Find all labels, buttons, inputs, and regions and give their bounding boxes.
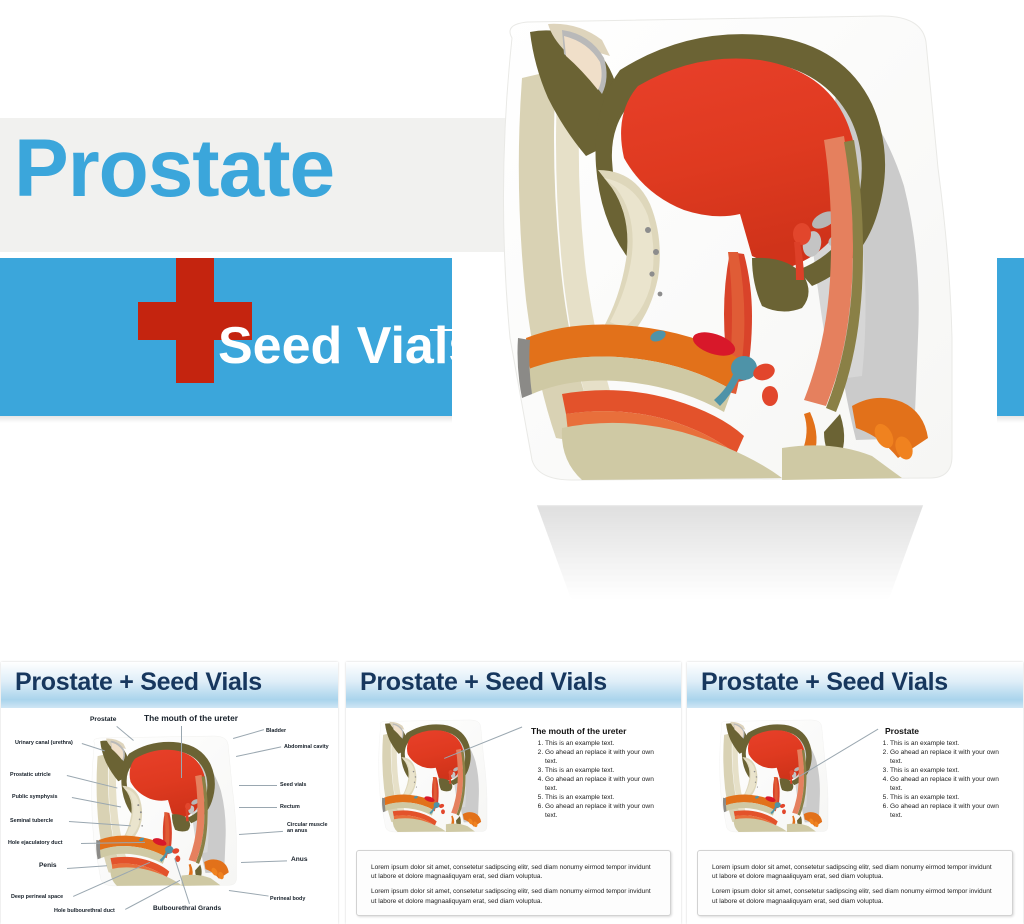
lorem-text-box: Lorem ipsum dolor sit amet, consetetur s… bbox=[697, 850, 1013, 916]
slide-title: Prostate + Seed Vials bbox=[360, 668, 607, 697]
list-item: This is an example text. bbox=[890, 767, 1005, 776]
list-item: Go ahead an replace it with your own tex… bbox=[545, 749, 660, 766]
label-bulbourethral-grands: Bulbourethral Grands bbox=[153, 905, 221, 913]
slide-title: Prostate + Seed Vials bbox=[701, 668, 948, 697]
slide-body: The mouth of the ureter This is an examp… bbox=[346, 708, 681, 924]
label-prostate: Prostate bbox=[90, 716, 116, 724]
list-item: This is an example text. bbox=[545, 794, 660, 803]
slide-header: Prostate + Seed Vials bbox=[687, 662, 1023, 708]
label-hole-bulbourethral-duct: Hole bulbourethral duct bbox=[54, 908, 115, 914]
list-item: This is an example text. bbox=[890, 740, 1005, 749]
label-prostatic-utricle: Prostatic utricle bbox=[10, 772, 51, 778]
callout-title: Prostate bbox=[885, 726, 919, 736]
thumbnail-slide-3[interactable]: Prostate + Seed Vials Prostate This is a… bbox=[687, 662, 1023, 924]
page-title: Prostate bbox=[14, 128, 334, 210]
leader-line bbox=[239, 785, 277, 786]
list-item: This is an example text. bbox=[545, 767, 660, 776]
list-item: Go ahead an replace it with your own tex… bbox=[545, 803, 660, 820]
bullet-list: This is an example text. Go ahead an rep… bbox=[879, 740, 1005, 821]
illustration-reflection bbox=[520, 505, 940, 625]
leader-line bbox=[181, 726, 182, 778]
hero-slide: Prostate Seed Vials bbox=[0, 0, 1024, 650]
prostate-anatomy-illustration bbox=[452, 8, 997, 513]
thumbnail-slide-2[interactable]: Prostate + Seed Vials The mouth of the u… bbox=[346, 662, 681, 924]
slide-title: Prostate + Seed Vials bbox=[15, 668, 262, 697]
label-rectum: Rectum bbox=[280, 804, 300, 810]
thumbnail-slide-1[interactable]: Prostate + Seed Vials Prostate The mouth… bbox=[1, 662, 338, 924]
list-item: This is an example text. bbox=[545, 740, 660, 749]
leader-line bbox=[239, 807, 277, 808]
label-hole-ejaculatory-duct: Hole ejaculatory duct bbox=[8, 840, 63, 846]
anatomy-figure bbox=[703, 718, 843, 840]
label-bladder: Bladder bbox=[266, 728, 286, 734]
lorem-paragraph: Lorem ipsum dolor sit amet, consetetur s… bbox=[712, 887, 998, 905]
leader-line bbox=[241, 860, 287, 863]
lorem-paragraph: Lorem ipsum dolor sit amet, consetetur s… bbox=[371, 863, 656, 881]
lorem-text-box: Lorem ipsum dolor sit amet, consetetur s… bbox=[356, 850, 671, 916]
slide-body: Prostate The mouth of the ureter Urinary… bbox=[1, 708, 338, 924]
label-deep-perineal-space: Deep perineal space bbox=[11, 894, 63, 900]
slide-body: Prostate This is an example text. Go ahe… bbox=[687, 708, 1023, 924]
callout-title: The mouth of the ureter bbox=[531, 726, 626, 736]
page-subtitle: Seed Vials bbox=[218, 320, 477, 372]
label-urinary-canal: Urinary canal (urethra) bbox=[15, 740, 73, 746]
bullet-list: This is an example text. Go ahead an rep… bbox=[534, 740, 660, 821]
label-perineal-body: Perineal body bbox=[270, 896, 305, 902]
anatomy-figure bbox=[362, 718, 502, 840]
thumbnail-slide-row: Prostate + Seed Vials Prostate The mouth… bbox=[0, 662, 1024, 924]
label-abdominal-cavity: Abdominal cavity bbox=[284, 744, 329, 750]
list-item: Go ahead an replace it with your own tex… bbox=[545, 776, 660, 793]
slide-header: Prostate + Seed Vials bbox=[1, 662, 338, 708]
list-item: Go ahead an replace it with your own tex… bbox=[890, 776, 1005, 793]
label-anus: Anus bbox=[291, 856, 307, 864]
label-seed-vials: Seed vials bbox=[280, 782, 306, 788]
label-mouth-of-ureter: The mouth of the ureter bbox=[144, 714, 238, 724]
list-item: Go ahead an replace it with your own tex… bbox=[890, 803, 1005, 820]
list-item: This is an example text. bbox=[890, 794, 1005, 803]
label-circular-muscle-anus: Circular muscle an anus bbox=[287, 822, 333, 834]
slide-header: Prostate + Seed Vials bbox=[346, 662, 681, 708]
label-seminal-tubercle: Seminal tubercle bbox=[10, 818, 53, 824]
slide-deck-image: Prostate Seed Vials Prostate + Seed Vial… bbox=[0, 0, 1024, 924]
label-public-symphysis: Public symphysis bbox=[12, 794, 58, 800]
lorem-paragraph: Lorem ipsum dolor sit amet, consetetur s… bbox=[712, 863, 998, 881]
list-item: Go ahead an replace it with your own tex… bbox=[890, 749, 1005, 766]
label-penis: Penis bbox=[39, 862, 57, 870]
lorem-paragraph: Lorem ipsum dolor sit amet, consetetur s… bbox=[371, 887, 656, 905]
